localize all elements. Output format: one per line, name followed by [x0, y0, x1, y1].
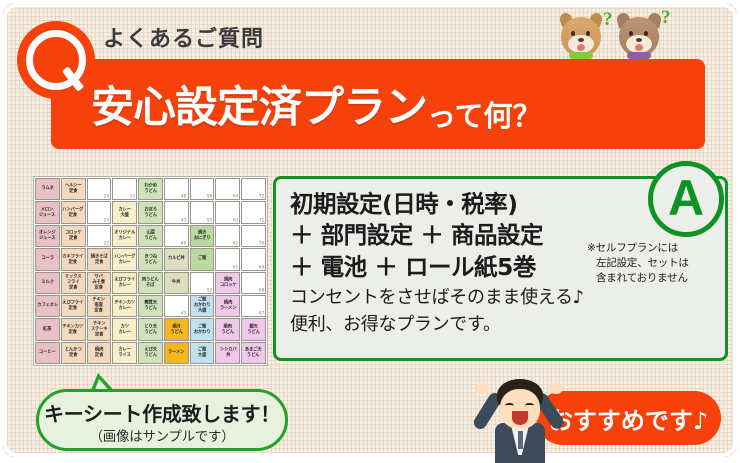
key-cell-label: コーラ	[41, 257, 54, 262]
key-cell-r7-c3[interactable]: チキン ステーキ 定食	[87, 318, 112, 340]
key-cell-r5-c1[interactable]: ミルク	[35, 272, 60, 294]
key-cell-r4-c6[interactable]: カルビ丼	[164, 248, 189, 270]
key-cell-number: 72	[258, 194, 264, 199]
key-cell-r8-c9[interactable]: あまご天 うどん	[241, 342, 266, 364]
cat-mascot-icon	[617, 11, 661, 59]
man-mouth	[512, 411, 528, 425]
key-cell-number: 43	[181, 311, 187, 316]
key-cell-label: シシカバ 丼	[219, 348, 236, 358]
key-cell-label: チキンカツ 定食	[63, 324, 84, 334]
key-cell-r4-c7[interactable]: ご飯	[190, 248, 215, 270]
key-cell-r3-c5[interactable]: 山菜 うどん	[138, 225, 163, 247]
key-cell-r5-c7[interactable]: 52	[190, 272, 215, 294]
key-cell-number: 48	[181, 194, 187, 199]
key-cell-r4-c2[interactable]: カキフライ 定食	[61, 248, 86, 270]
key-cell-r6-c2[interactable]: えびフライ 定食	[61, 295, 86, 317]
key-cell-number: 67	[258, 311, 264, 316]
key-cell-label: オリジナル カレー	[114, 231, 135, 241]
key-cell-r1-c2[interactable]: ヘルシー 定食	[61, 178, 86, 200]
key-cell-number: 62	[233, 241, 239, 246]
callout-sub-text: （画像はサンプルです）	[39, 425, 285, 445]
key-cell-r7-c5[interactable]: とり天 うどん	[138, 318, 163, 340]
dog-eye-right	[586, 31, 590, 36]
key-cell-label: わかめ うどん	[144, 184, 157, 194]
man-hand-left	[475, 383, 489, 394]
key-cell-r3-c4[interactable]: オリジナル カレー	[112, 225, 137, 247]
key-cell-r4-c3[interactable]: 焼きそば 定食	[87, 248, 112, 270]
callout-main-text: キーシート作成致します！	[39, 398, 285, 427]
key-cell-label: 肉うどん そば	[142, 278, 159, 288]
answer-note-line-2: 左記設定、セットは	[587, 256, 715, 271]
key-cell-r4-c9[interactable]: 69	[241, 248, 266, 270]
key-cell-label: ご飯 おかわり	[194, 324, 211, 334]
key-cell-r2-c2[interactable]: ハンバーグ 定食	[61, 201, 86, 223]
key-cell-label: サバ みそ煮 定食	[93, 275, 106, 290]
mascot-group: ? ?	[559, 5, 679, 61]
key-cell-r6-c3[interactable]: チキン 南蛮 定食	[87, 295, 112, 317]
dog-mouth	[577, 44, 585, 51]
key-cell-r2-c7[interactable]: 55	[190, 201, 215, 223]
businessman-icon	[473, 375, 568, 463]
key-cell-number: 68	[258, 288, 264, 293]
key-cell-number: 64	[233, 194, 239, 199]
key-cell-r8-c7[interactable]: ご飯 大盛	[190, 342, 215, 364]
key-cell-r8-c8[interactable]: シシカバ 丼	[215, 342, 240, 364]
key-cell-label: あまご天 うどん	[245, 348, 262, 358]
question-badge-icon	[17, 21, 95, 99]
key-cell-r5-c3[interactable]: サバ みそ煮 定食	[87, 272, 112, 294]
key-cell-label: 焼肉 うどん	[222, 324, 235, 334]
key-cell-number: 63	[233, 218, 239, 223]
key-cell-r5-c2[interactable]: ミックス フライ 定食	[61, 272, 86, 294]
key-cell-number: 55	[207, 218, 213, 223]
man-hand-right	[549, 383, 563, 394]
key-cell-label: カレー 大盛	[118, 207, 131, 217]
key-cell-r2-c5[interactable]: おぼろ うどん	[138, 201, 163, 223]
key-cell-r5-c8[interactable]: 焼肉 コロッケ	[215, 272, 240, 294]
key-cell-r1-c6[interactable]: 48	[164, 178, 189, 200]
key-cell-r3-c2[interactable]: コロッケ 定食	[61, 225, 86, 247]
man-eye-left	[505, 403, 514, 408]
key-cell-label: とんかつ 定食	[65, 348, 82, 358]
key-cell-label: コロッケ 定食	[65, 231, 82, 241]
answer-badge-icon: A	[648, 161, 724, 237]
cat-eye-right	[644, 31, 648, 36]
key-cell-r6-c8[interactable]: 焼肉 ラーメン	[215, 295, 240, 317]
key-cell-label: ご飯 おかわり 大盛	[194, 298, 211, 313]
key-cell-r7-c6[interactable]: 焼き うどん	[164, 318, 189, 340]
key-cell-label: オレンジ ジュース	[39, 231, 56, 241]
key-cell-label: 焼き うどん	[170, 324, 183, 334]
key-cell-label: チキン ステーキ 定食	[91, 322, 108, 337]
key-cell-r6-c5[interactable]: 舞茸天 うどん	[138, 295, 163, 317]
dog-eye-left	[571, 31, 575, 36]
key-cell-r2-c8[interactable]: 63	[215, 201, 240, 223]
key-cell-label: 焼肉 ラーメン	[220, 301, 237, 311]
key-cell-label: 焼きそば 定食	[91, 254, 108, 264]
key-cell-number: 52	[207, 288, 213, 293]
key-cell-label: ミルク	[41, 280, 54, 285]
key-cell-r5-c6[interactable]: 牛丼	[164, 272, 189, 294]
answer-line-4: コンセントをさせばそのまま使える♪	[290, 285, 620, 310]
key-cell-r6-c9[interactable]: 67	[241, 295, 266, 317]
key-cell-r8-c6[interactable]: ラーメン	[164, 342, 189, 364]
cat-question-mark-icon: ?	[661, 7, 671, 29]
key-cell-r2-c9[interactable]: 71	[241, 201, 266, 223]
key-cell-label: ヘルシー 定食	[65, 184, 82, 194]
key-cell-number: 24	[104, 194, 110, 199]
key-sheet-grid[interactable]: ラムネヘルシー 定食2432わかめ うどん48566472メロン ジュースハンバ…	[33, 176, 268, 366]
key-cell-r7-c1[interactable]: 紅茶	[35, 318, 60, 340]
q-letter-ring	[26, 30, 86, 90]
key-cell-r3-c1[interactable]: オレンジ ジュース	[35, 225, 60, 247]
key-cell-r1-c4[interactable]: 32	[112, 178, 137, 200]
answer-note: ※セルフプランには 左記設定、セットは 含まれておりません	[587, 241, 715, 286]
dog-question-mark-icon: ?	[603, 9, 613, 31]
key-cell-label: チキンカツ カレー	[114, 301, 135, 311]
recommend-label: おすすめです♪	[549, 401, 708, 436]
faq-label: よくあるご質問	[103, 21, 264, 53]
key-cell-label: カレー ライス	[118, 348, 131, 358]
dog-nose	[578, 38, 584, 42]
key-cell-label: えびフライ 定食	[63, 301, 84, 311]
key-cell-r2-c3[interactable]: 23	[87, 201, 112, 223]
key-cell-label: ミックス フライ 定食	[65, 275, 82, 290]
key-cell-r7-c9[interactable]: 鯨天 うどん	[241, 318, 266, 340]
answer-text-block: 初期設定(日時・税率) ＋ 部門設定 ＋ 商品設定 ＋ 電池 ＋ ロール紙5巻 …	[290, 189, 620, 337]
key-cell-r6-c7[interactable]: ご飯 おかわり 大盛	[190, 295, 215, 317]
key-cell-r1-c3[interactable]: 24	[87, 178, 112, 200]
key-cell-label: えび天 うどん	[144, 348, 157, 358]
key-cell-number: 56	[207, 194, 213, 199]
key-cell-number: 69	[258, 264, 264, 269]
key-cell-label: 舞茸天 うどん	[144, 301, 157, 311]
key-cell-r4-c5[interactable]: きつね うどん	[138, 248, 163, 270]
key-cell-r7-c2[interactable]: チキンカツ 定食	[61, 318, 86, 340]
key-cell-r3-c6[interactable]: 46	[164, 225, 189, 247]
answer-note-line-3: 含まれておりません	[587, 271, 715, 286]
key-cell-r3-c3[interactable]: 22	[87, 225, 112, 247]
key-cell-label: チキン 南蛮 定食	[93, 298, 105, 313]
key-cell-label: おぼろ うどん	[144, 207, 157, 217]
key-cell-r3-c9[interactable]: 70	[241, 225, 266, 247]
key-cell-label: ラーメン	[168, 350, 185, 355]
key-cell-r2-c4[interactable]: カレー 大盛	[112, 201, 137, 223]
answer-note-line-1: ※セルフプランには	[587, 242, 678, 254]
key-cell-r7-c7[interactable]: ご飯 おかわり	[190, 318, 215, 340]
key-cell-number: 71	[258, 218, 264, 223]
headline-bar: 安心設定済プラン って何？	[51, 59, 705, 149]
key-cell-label: カルビ丼	[168, 257, 185, 262]
key-cell-r5-c5[interactable]: 肉うどん そば	[138, 272, 163, 294]
key-cell-label: ハンバーグ 定食	[63, 207, 84, 217]
cat-eye-left	[629, 31, 633, 36]
cat-nose	[636, 38, 642, 42]
key-cell-number: 47	[181, 218, 187, 223]
key-cell-r6-c4[interactable]: チキンカツ カレー	[112, 295, 137, 317]
key-cell-label: 鯨天 うどん	[247, 324, 260, 334]
key-cell-label: ハンバーグ カレー	[114, 254, 135, 264]
key-cell-number: 70	[258, 241, 264, 246]
key-cell-label: 山菜 うどん	[144, 231, 157, 241]
headline-main: 安心設定済プラン	[91, 73, 427, 135]
key-cell-label: えびフライ カレー	[114, 278, 135, 288]
key-cell-r6-c6[interactable]: 43	[164, 295, 189, 317]
cat-mouth	[635, 44, 643, 51]
man-tie	[518, 431, 523, 449]
key-cell-label: とり天 うどん	[144, 324, 157, 334]
answer-line-3: ＋ 電池 ＋ ロール紙5巻	[290, 252, 620, 283]
key-cell-r8-c1[interactable]: コーヒー	[35, 342, 60, 364]
key-cell-label: カフェオレ	[37, 304, 58, 309]
key-cell-r1-c7[interactable]: 56	[190, 178, 215, 200]
dog-collar	[569, 52, 593, 59]
faq-banner: よくあるご質問 安心設定済プラン って何？ ?	[0, 0, 740, 460]
cat-collar	[627, 52, 651, 59]
key-cell-label: ご飯	[198, 257, 206, 262]
key-cell-label: カキフライ 定食	[63, 254, 84, 264]
key-cell-r1-c9[interactable]: 72	[241, 178, 266, 200]
key-cell-r2-c1[interactable]: メロン ジュース	[35, 201, 60, 223]
key-cell-r6-c1[interactable]: カフェオレ	[35, 295, 60, 317]
key-cell-r2-c6[interactable]: 47	[164, 201, 189, 223]
key-cell-label: カツ カレー	[118, 324, 131, 334]
answer-line-2: ＋ 部門設定 ＋ 商品設定	[290, 220, 620, 251]
key-cell-r8-c4[interactable]: カレー ライス	[112, 342, 137, 364]
key-cell-label: コーヒー	[39, 350, 56, 355]
key-cell-r1-c8[interactable]: 64	[215, 178, 240, 200]
key-cell-label: 焼き おにぎり	[194, 231, 211, 241]
key-cell-r8-c2[interactable]: とんかつ 定食	[61, 342, 86, 364]
key-cell-label: きつね うどん	[144, 254, 157, 264]
key-cell-label: 紅茶	[43, 327, 51, 332]
key-cell-r5-c4[interactable]: えびフライ カレー	[112, 272, 137, 294]
key-cell-number: 22	[104, 241, 110, 246]
key-cell-label: メロン ジュース	[39, 207, 55, 217]
key-cell-r7-c8[interactable]: 焼肉 うどん	[215, 318, 240, 340]
answer-line-1: 初期設定(日時・税率)	[290, 189, 620, 220]
key-cell-number: 32	[129, 194, 135, 199]
key-cell-label: 牛丼	[172, 280, 180, 285]
key-cell-number: 23	[104, 218, 110, 223]
key-cell-label: ラムネ	[41, 187, 53, 192]
answer-line-5: 便利、お得なプランです。	[290, 312, 620, 337]
key-cell-r5-c9[interactable]: 68	[241, 272, 266, 294]
key-cell-r3-c7[interactable]: 焼き おにぎり	[190, 225, 215, 247]
key-cell-label: 焼肉 定食	[95, 348, 103, 358]
key-cell-r3-c8[interactable]: 62	[215, 225, 240, 247]
key-cell-r8-c3[interactable]: 焼肉 定食	[87, 342, 112, 364]
key-cell-r4-c8[interactable]: 61	[215, 248, 240, 270]
key-cell-label: ご飯 大盛	[198, 348, 206, 358]
key-cell-number: 61	[233, 264, 239, 269]
key-cell-r8-c5[interactable]: えび天 うどん	[138, 342, 163, 364]
key-cell-r7-c4[interactable]: カツ カレー	[112, 318, 137, 340]
dog-mascot-icon	[559, 11, 603, 59]
man-eye-right	[525, 403, 534, 408]
headline-tail: って何？	[427, 93, 542, 149]
keysheet-callout: キーシート作成致します！ （画像はサンプルです）	[36, 389, 288, 451]
key-cell-r4-c1[interactable]: コーラ	[35, 248, 60, 270]
key-cell-number: 46	[181, 241, 187, 246]
key-cell-label: 焼肉 コロッケ	[219, 278, 236, 288]
key-cell-r1-c5[interactable]: わかめ うどん	[138, 178, 163, 200]
answer-badge-letter: A	[668, 173, 704, 223]
key-cell-r1-c1[interactable]: ラムネ	[35, 178, 60, 200]
key-cell-r4-c4[interactable]: ハンバーグ カレー	[112, 248, 137, 270]
